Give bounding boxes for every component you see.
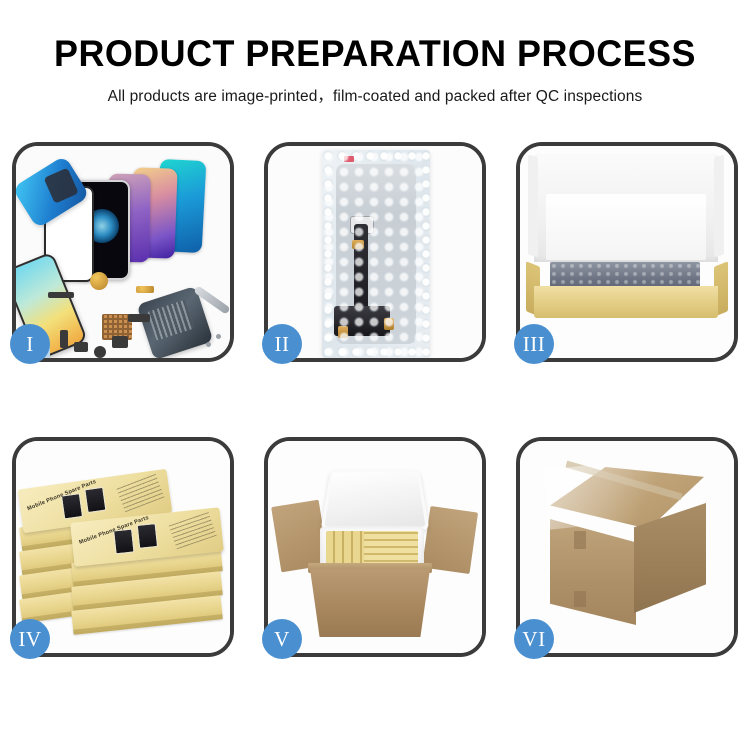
screw-part-icon (216, 334, 221, 339)
camera-module-part-icon (74, 342, 88, 352)
open-yellow-flat-box-illustration (520, 146, 734, 358)
page-subtitle: All products are image-printed，film-coat… (0, 75, 750, 106)
gold-contact-pad-icon (352, 240, 364, 249)
speaker-coil-part-icon (90, 272, 108, 290)
antenna-strip-part-icon (48, 292, 74, 298)
yellow-boxes-inside-icon (364, 531, 418, 567)
box-print-textlines-icon (168, 511, 216, 549)
vibrator-part-icon (94, 346, 106, 358)
box-front-panel-icon (534, 286, 718, 318)
box-print-thumb-icon (84, 487, 106, 513)
carton-tape-patch-icon (574, 591, 586, 607)
red-label-icon (344, 156, 354, 162)
carton-tape-patch-icon (574, 531, 586, 549)
charging-port-part-icon (128, 314, 150, 322)
process-step-panel-3[interactable]: III (516, 142, 738, 362)
open-carton-with-boxes-illustration (268, 441, 482, 653)
step-badge-1: I (10, 324, 50, 364)
phone-screens-and-parts-illustration (16, 146, 230, 358)
process-step-panel-6[interactable]: VI (516, 437, 738, 657)
page-title: PRODUCT PREPARATION PROCESS (11, 0, 739, 75)
step-badge-4: IV (10, 619, 50, 659)
step-badge-5: V (262, 619, 302, 659)
sim-tray-part-icon (112, 336, 128, 348)
gold-contact-pad-icon (384, 318, 394, 330)
sealed-shipping-carton-illustration (520, 441, 734, 653)
step-badge-6: VI (514, 619, 554, 659)
button-flex-part-icon (60, 330, 68, 348)
flex-connector-part-icon (136, 286, 154, 293)
stacked-retail-boxes-illustration: Mobile Phone Spare Parts Mobile Phone Sp… (16, 441, 230, 653)
foam-lid-icon (321, 470, 430, 530)
step-badge-3: III (514, 324, 554, 364)
box-print-thumb-icon (137, 523, 158, 549)
bubble-wrapped-screen-illustration (268, 146, 482, 358)
screw-part-icon (206, 342, 211, 347)
bubble-wrap-bag-icon (322, 150, 430, 358)
process-step-grid: I II (12, 142, 738, 698)
white-foam-sheet-icon (546, 194, 706, 260)
carton-body-icon (310, 569, 430, 637)
process-step-panel-2[interactable]: II (264, 142, 486, 362)
process-step-panel-4[interactable]: Mobile Phone Spare Parts Mobile Phone Sp… (12, 437, 234, 657)
box-print-textlines-icon (116, 473, 165, 512)
step-badge-2: II (262, 324, 302, 364)
process-step-panel-1[interactable]: I (12, 142, 234, 362)
process-step-panel-5[interactable]: V (264, 437, 486, 657)
gold-contact-pad-icon (338, 326, 348, 338)
page-header: PRODUCT PREPARATION PROCESS All products… (0, 0, 750, 106)
